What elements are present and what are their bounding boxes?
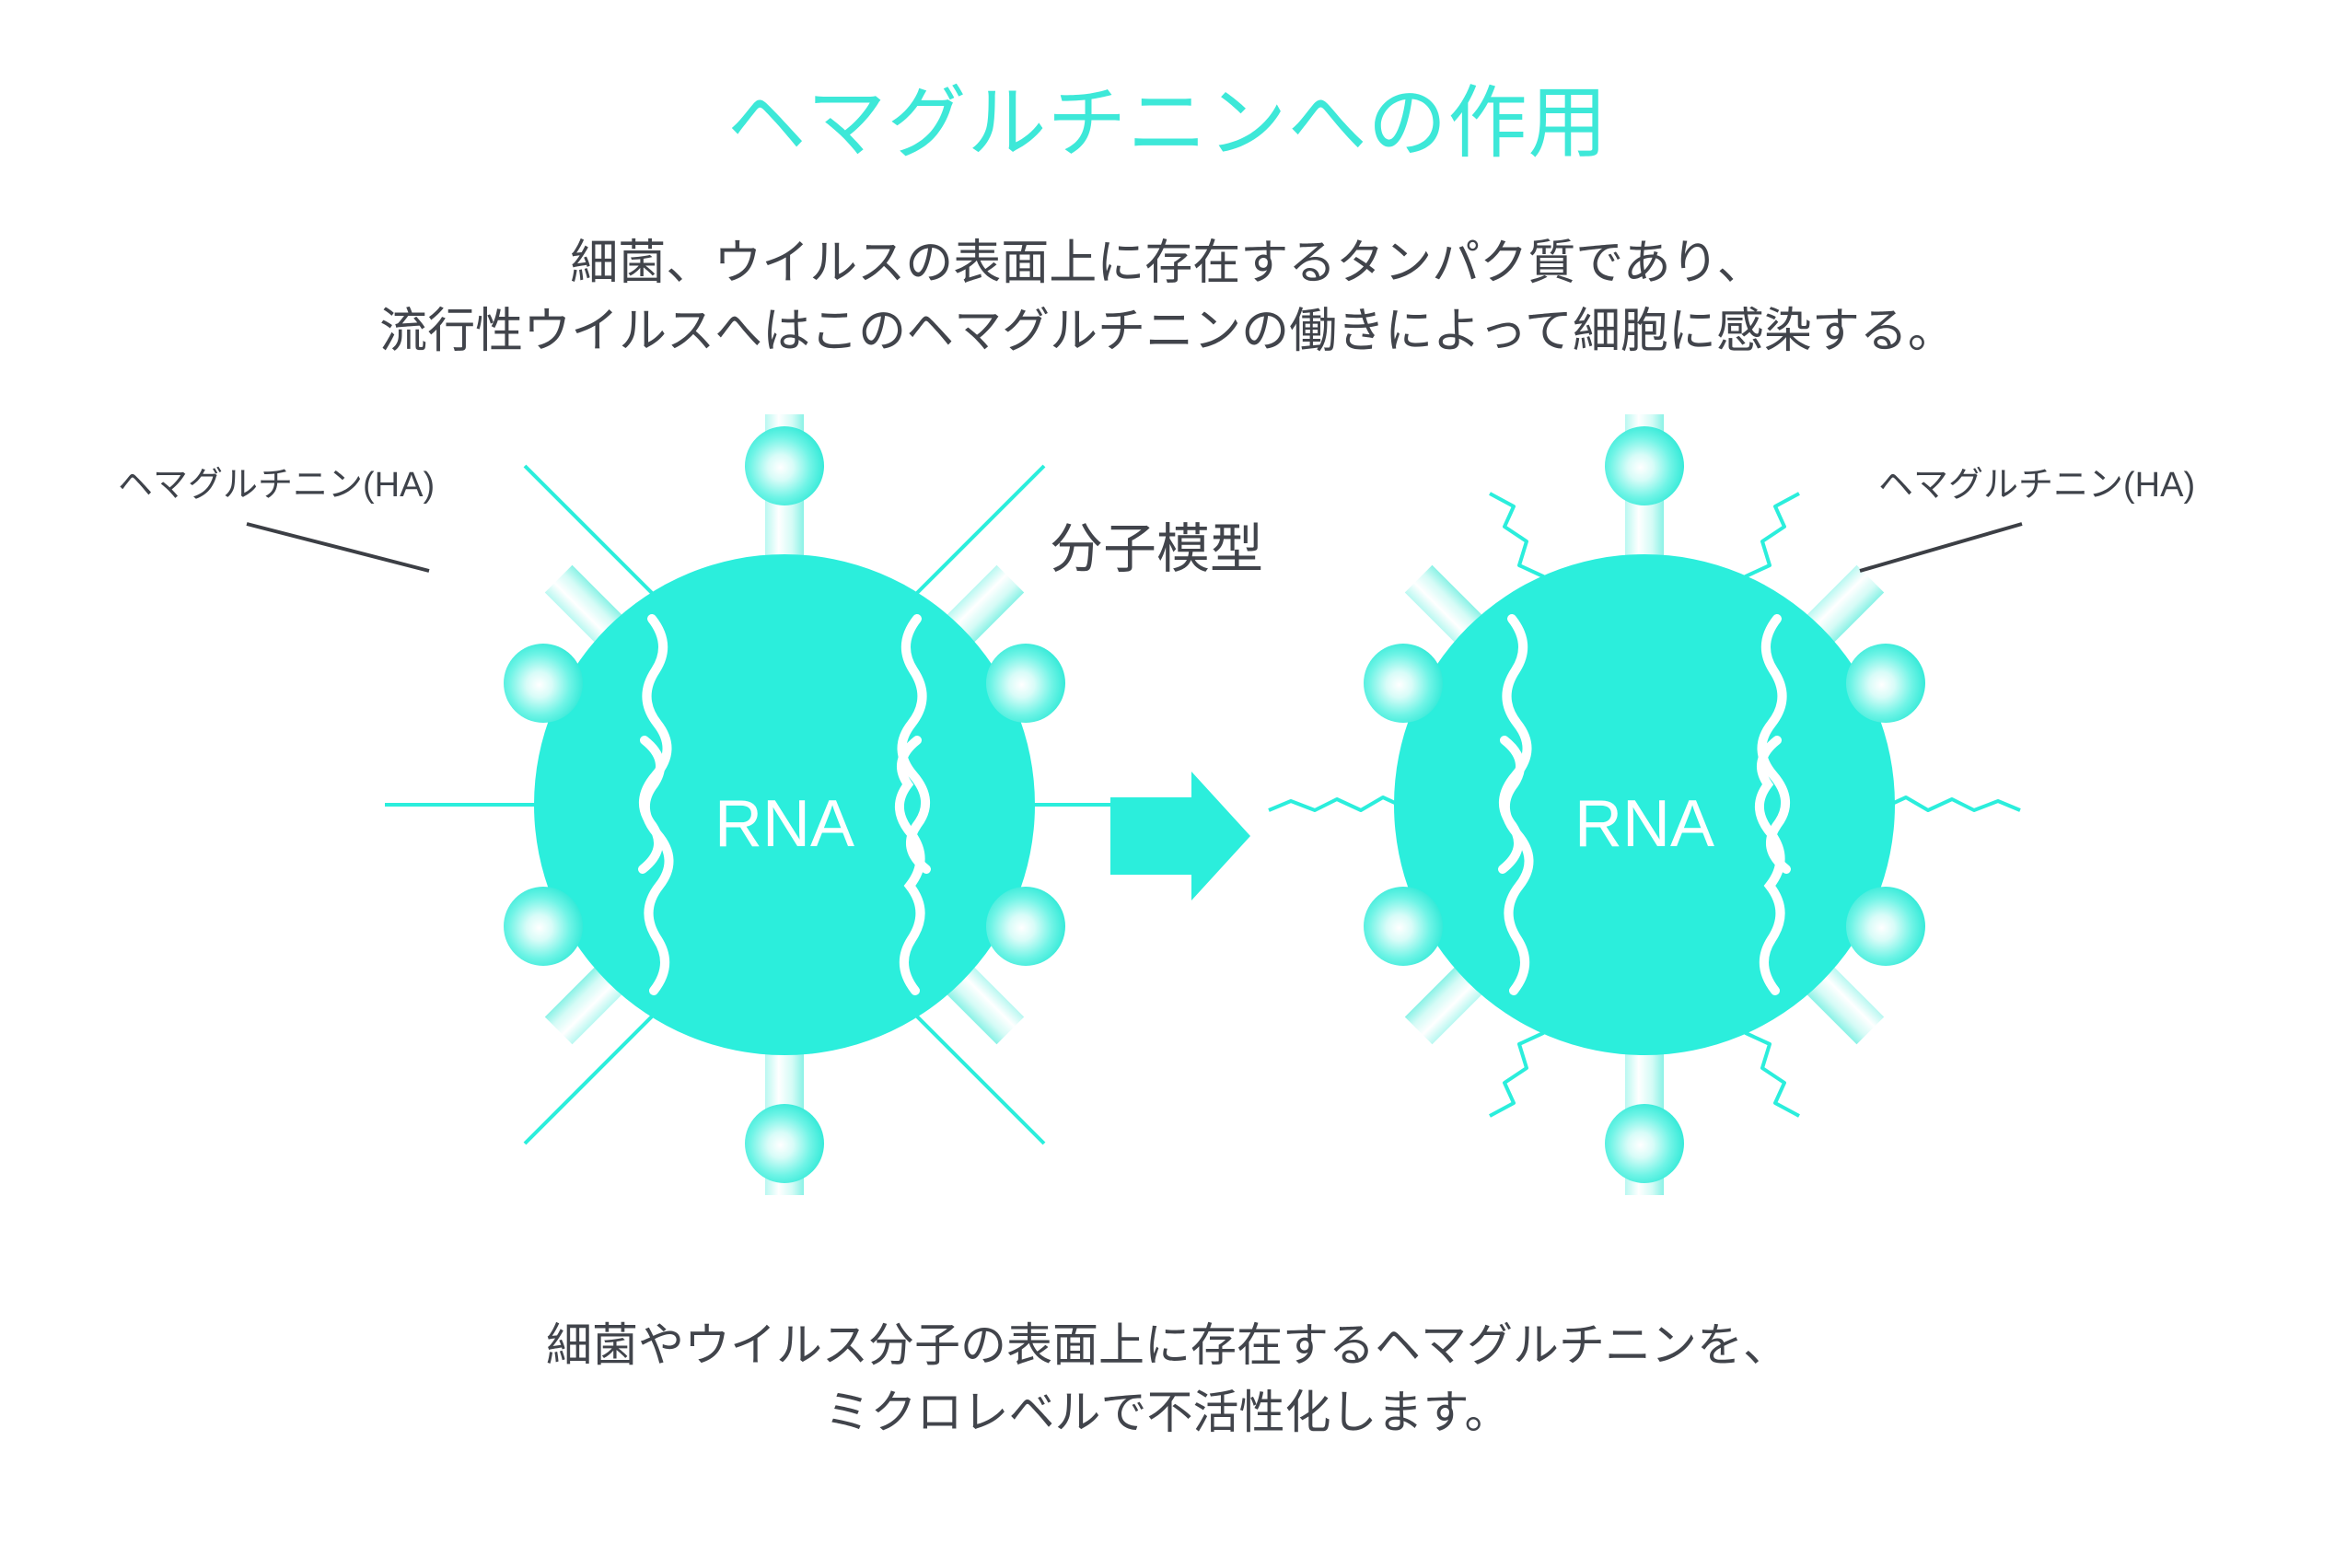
right-ha-leader-line <box>1860 524 2022 571</box>
ha-knob <box>986 887 1065 966</box>
right-core-label: RNA <box>1574 787 1714 861</box>
right-virus: RNA <box>1269 414 2022 1195</box>
molecular-model-label: 分子模型 <box>1050 523 1263 576</box>
ha-knob <box>986 644 1065 723</box>
left-virus: RNA <box>247 414 1184 1195</box>
caption-line-2: ミクロレベルで不活性化します。 <box>0 1379 2335 1446</box>
caption-line-1: 細菌やウイルス分子の表面上に存在するヘマグルチニンを、 <box>0 1312 2335 1379</box>
ha-knob <box>1605 1104 1684 1183</box>
ha-knob <box>745 1104 824 1183</box>
ha-knob <box>1605 426 1684 505</box>
ha-knob <box>1846 887 1925 966</box>
ha-knob <box>1364 887 1443 966</box>
arrow-right-icon <box>1110 772 1250 900</box>
ha-knob <box>1364 644 1443 723</box>
ha-knob <box>745 426 824 505</box>
left-core-label: RNA <box>714 787 854 861</box>
illustration-canvas: ヘマグルチニンへの作用 細菌、ウイルスの表面上に存在するタンパク質であり、 流行… <box>0 0 2335 1568</box>
caption-block: 細菌やウイルス分子の表面上に存在するヘマグルチニンを、 ミクロレベルで不活性化し… <box>0 1312 2335 1446</box>
right-ha-label: ヘマグルチニン(HA) <box>1878 468 2195 503</box>
left-ha-label: ヘマグルチニン(HA) <box>118 468 435 503</box>
left-ha-leader-line <box>247 524 429 571</box>
ha-knob <box>1846 644 1925 723</box>
ha-knob <box>504 644 583 723</box>
ha-knob <box>504 887 583 966</box>
